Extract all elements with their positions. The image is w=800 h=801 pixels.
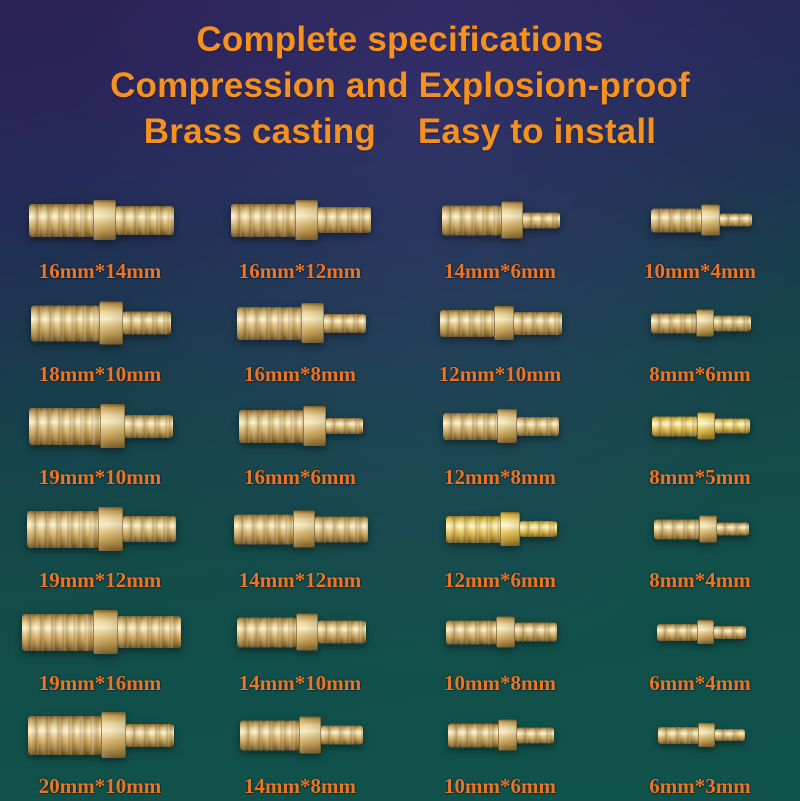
barb-end-small [118,616,181,648]
product-cell[interactable]: 8mm*6mm [600,286,800,389]
barb-end-large [234,514,293,544]
brass-hose-barb-coupler-icon [446,617,557,648]
size-label: 19mm*10mm [0,465,200,490]
product-cell[interactable]: 19mm*12mm [0,492,200,595]
hex-flange [500,512,520,546]
fitting-image [200,286,400,360]
barb-end-small [715,419,750,434]
fitting-image [400,389,600,463]
brass-hose-barb-coupler-icon [237,614,366,651]
fitting-image [0,183,200,257]
fitting-image [0,286,200,360]
fitting-image [600,183,800,257]
hex-flange [296,614,318,651]
hex-flange [98,507,123,551]
fitting-image [0,492,200,566]
product-cell[interactable]: 18mm*10mm [0,286,200,389]
barb-end-large [652,416,697,436]
brass-hose-barb-coupler-icon [234,511,368,548]
barb-end-small [123,312,171,335]
product-cell[interactable]: 12mm*8mm [400,389,600,492]
fitting-image [600,492,800,566]
size-label: 12mm*8mm [400,465,600,490]
barb-end-small [520,521,557,537]
barb-end-small [523,212,560,228]
fitting-image [0,698,200,772]
barb-end-small [321,726,363,745]
size-label: 16mm*8mm [200,362,400,387]
barb-end-large [657,624,697,641]
barb-end-small [714,626,746,639]
barb-end-small [717,523,749,536]
size-label: 12mm*10mm [400,362,600,387]
barb-end-large [29,204,93,237]
fitting-image [400,286,600,360]
size-label: 6mm*3mm [600,774,800,799]
hex-flange [101,712,126,758]
product-cell[interactable]: 14mm*6mm [400,183,600,286]
barb-end-large [448,723,498,747]
barb-end-large [446,620,496,644]
hex-flange [100,404,125,448]
hex-flange [697,620,714,644]
hex-flange [701,205,720,236]
barb-end-large [658,727,698,744]
hex-flange [303,406,326,446]
brass-hose-barb-coupler-icon [651,205,752,236]
product-cell[interactable]: 14mm*12mm [200,492,400,595]
product-cell[interactable]: 10mm*8mm [400,595,600,698]
brass-hose-barb-coupler-icon [237,303,366,343]
barb-end-small [315,516,368,542]
product-spec-image: Complete specifications Compression and … [0,0,800,800]
product-cell[interactable]: 16mm*14mm [0,183,200,286]
product-row: 20mm*10mm14mm*8mm10mm*6mm6mm*3mm [0,698,800,801]
barb-end-large [239,410,303,443]
product-cell[interactable]: 12mm*6mm [400,492,600,595]
product-row: 19mm*12mm14mm*12mm12mm*6mm8mm*4mm [0,492,800,595]
barb-end-small [720,214,752,227]
size-label: 8mm*6mm [600,362,800,387]
product-cell[interactable]: 8mm*5mm [600,389,800,492]
barb-end-large [442,205,501,235]
fitting-image [200,492,400,566]
size-label: 10mm*4mm [600,259,800,284]
barb-end-large [27,511,98,548]
barb-end-large [237,617,296,647]
barb-end-large [28,716,101,755]
fitting-image [600,389,800,463]
hex-flange [494,306,514,340]
size-label: 10mm*6mm [400,774,600,799]
product-cell[interactable]: 16mm*6mm [200,389,400,492]
brass-hose-barb-coupler-icon [651,310,751,337]
fitting-image [600,286,800,360]
size-label: 14mm*10mm [200,671,400,696]
barb-end-large [231,204,295,237]
size-label: 8mm*5mm [600,465,800,490]
barb-end-small [326,418,363,434]
hex-flange [497,409,517,443]
barb-end-large [237,307,301,340]
heading-block: Complete specifications Compression and … [0,22,800,149]
size-label: 20mm*10mm [0,774,200,799]
barb-end-small [123,516,176,542]
size-label: 14mm*6mm [400,259,600,284]
product-grid: 16mm*14mm16mm*12mm14mm*6mm10mm*4mm18mm*1… [0,183,800,801]
size-label: 18mm*10mm [0,362,200,387]
product-cell[interactable]: 8mm*4mm [600,492,800,595]
size-label: 6mm*4mm [600,671,800,696]
brass-hose-barb-coupler-icon [652,413,750,440]
product-cell[interactable]: 6mm*4mm [600,595,800,698]
size-label: 12mm*6mm [400,568,600,593]
barb-end-small [318,621,366,644]
size-label: 16mm*12mm [200,259,400,284]
heading-line-3-part-a: Brass casting [144,112,376,151]
fitting-image [200,595,400,669]
fitting-image [600,698,800,772]
hex-flange [697,413,715,440]
fitting-image [400,595,600,669]
barb-end-large [22,614,93,651]
hex-flange [698,723,715,747]
brass-hose-barb-coupler-icon [29,200,174,240]
fitting-image [0,595,200,669]
barb-end-large [240,720,299,750]
hex-flange [295,200,318,240]
barb-end-large [443,413,497,440]
heading-line-1: Complete specifications [0,22,800,57]
product-cell[interactable]: 6mm*3mm [600,698,800,801]
product-cell[interactable]: 12mm*10mm [400,286,600,389]
product-cell[interactable]: 20mm*10mm [0,698,200,801]
barb-end-small [715,729,745,741]
heading-line-2: Compression and Explosion-proof [0,68,800,103]
product-cell[interactable]: 19mm*16mm [0,595,200,698]
brass-hose-barb-coupler-icon [440,306,562,340]
barb-end-small [515,623,557,642]
size-label: 16mm*6mm [200,465,400,490]
brass-hose-barb-coupler-icon [240,717,363,754]
barb-end-large [31,305,99,341]
fitting-image [200,698,400,772]
size-label: 8mm*4mm [600,568,800,593]
brass-hose-barb-coupler-icon [22,610,181,654]
product-cell[interactable]: 16mm*12mm [200,183,400,286]
hex-flange [696,310,714,337]
brass-hose-barb-coupler-icon [446,512,557,546]
barb-end-small [125,415,173,438]
barb-end-large [29,408,100,445]
size-label: 14mm*8mm [200,774,400,799]
brass-hose-barb-coupler-icon [442,202,560,239]
barb-end-small [116,206,174,235]
brass-hose-barb-coupler-icon [27,507,176,551]
fitting-image [400,492,600,566]
brass-hose-barb-coupler-icon [28,712,174,758]
barb-end-small [517,417,559,436]
product-cell[interactable]: 14mm*8mm [200,698,400,801]
product-cell[interactable]: 14mm*10mm [200,595,400,698]
fitting-image [200,183,400,257]
fitting-image [0,389,200,463]
brass-hose-barb-coupler-icon [654,516,749,543]
hex-flange [93,610,118,654]
barb-end-small [517,727,554,743]
brass-hose-barb-coupler-icon [658,723,745,747]
barb-end-large [440,310,494,337]
product-row: 16mm*14mm16mm*12mm14mm*6mm10mm*4mm [0,183,800,286]
heading-line-3: Brass casting Easy to install [0,114,800,149]
brass-hose-barb-coupler-icon [31,302,171,345]
hex-flange [301,303,324,343]
product-row: 19mm*10mm16mm*6mm12mm*8mm8mm*5mm [0,389,800,492]
brass-hose-barb-coupler-icon [448,720,554,751]
size-label: 16mm*14mm [0,259,200,284]
fitting-image [600,595,800,669]
size-label: 19mm*12mm [0,568,200,593]
product-cell[interactable]: 10mm*4mm [600,183,800,286]
barb-end-small [318,207,371,233]
heading-line-3-part-b: Easy to install [418,112,656,151]
barb-end-large [446,516,500,543]
fitting-image [400,183,600,257]
product-row: 19mm*16mm14mm*10mm10mm*8mm6mm*4mm [0,595,800,698]
brass-hose-barb-coupler-icon [657,620,746,644]
size-label: 19mm*16mm [0,671,200,696]
fitting-image [200,389,400,463]
hex-flange [293,511,315,548]
hex-flange [93,200,116,240]
product-row: 18mm*10mm16mm*8mm12mm*10mm8mm*6mm [0,286,800,389]
product-cell[interactable]: 10mm*6mm [400,698,600,801]
hex-flange [99,302,123,345]
brass-hose-barb-coupler-icon [231,200,371,240]
barb-end-large [654,519,699,539]
hex-flange [501,202,523,239]
hex-flange [699,516,717,543]
barb-end-large [651,208,701,232]
brass-hose-barb-coupler-icon [443,409,559,443]
brass-hose-barb-coupler-icon [239,406,363,446]
fitting-image [400,698,600,772]
barb-end-small [324,314,366,333]
hex-flange [299,717,321,754]
barb-end-large [651,313,696,333]
product-cell[interactable]: 19mm*10mm [0,389,200,492]
brass-hose-barb-coupler-icon [29,404,173,448]
size-label: 10mm*8mm [400,671,600,696]
product-cell[interactable]: 16mm*8mm [200,286,400,389]
barb-end-small [514,312,562,335]
hex-flange [498,720,517,751]
barb-end-small [714,315,751,331]
barb-end-small [126,724,174,747]
hex-flange [496,617,515,648]
size-label: 14mm*12mm [200,568,400,593]
